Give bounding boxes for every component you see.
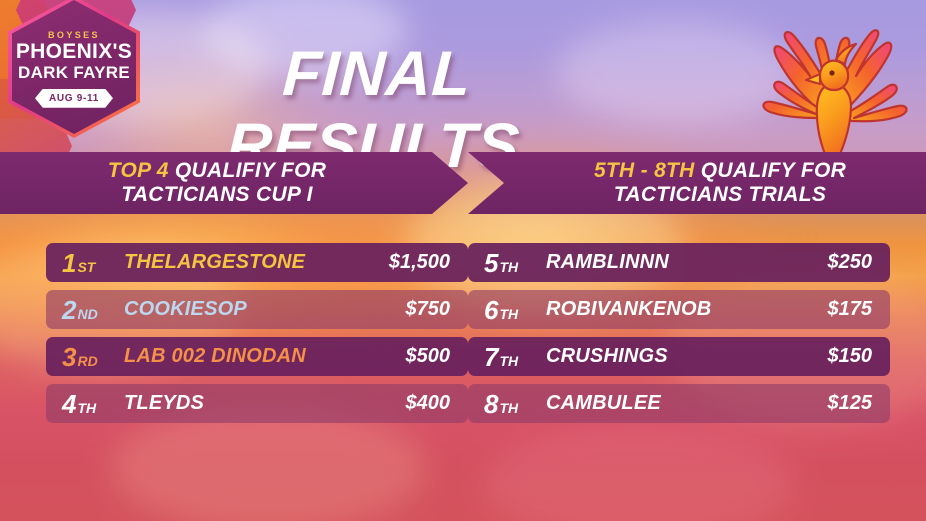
- rank-number: 4: [62, 391, 76, 417]
- result-row: 5THRAMBLINNN$250: [468, 243, 890, 282]
- banner-right-highlight: 5TH - 8TH: [594, 159, 695, 182]
- results-column-right: 5THRAMBLINNN$2506THROBIVANKENOB$1757THCR…: [468, 243, 890, 431]
- player-name: LAB 002 DINODAN: [124, 345, 406, 368]
- rank-placement: 4TH: [62, 391, 124, 417]
- prize-amount: $125: [828, 392, 873, 415]
- rank-number: 6: [484, 297, 498, 323]
- player-name: ROBIVANKENOB: [546, 298, 828, 321]
- prize-amount: $175: [828, 298, 873, 321]
- rank-number: 3: [62, 344, 76, 370]
- banner-left-highlight: TOP 4: [108, 159, 169, 182]
- rank-suffix: RD: [77, 354, 97, 368]
- rank-placement: 8TH: [484, 391, 546, 417]
- rank-number: 5: [484, 250, 498, 276]
- results-column-left: 1STTHELARGESTONE$1,5002NDCOOKIESOP$7503R…: [46, 243, 468, 431]
- player-name: TLEYDS: [124, 392, 406, 415]
- prize-amount: $1,500: [389, 251, 450, 274]
- rank-placement: 1ST: [62, 250, 124, 276]
- rank-placement: 2ND: [62, 297, 124, 323]
- rank-placement: 6TH: [484, 297, 546, 323]
- rank-suffix: TH: [499, 401, 518, 415]
- player-name: CAMBULEE: [546, 392, 828, 415]
- event-name-line2: DARK FAYRE: [18, 64, 130, 82]
- event-name-line1: PHOENIX'S: [16, 41, 132, 63]
- result-row: 6THROBIVANKENOB$175: [468, 290, 890, 329]
- banner-left-rest: QUALIFIY FOR: [175, 159, 326, 182]
- player-name: CRUSHINGS: [546, 345, 828, 368]
- rank-number: 8: [484, 391, 498, 417]
- prize-amount: $500: [406, 345, 451, 368]
- rank-number: 1: [62, 250, 76, 276]
- rank-suffix: ND: [77, 307, 97, 321]
- rank-number: 7: [484, 344, 498, 370]
- prize-amount: $250: [828, 251, 873, 274]
- rank-placement: 5TH: [484, 250, 546, 276]
- player-name: RAMBLINNN: [546, 251, 828, 274]
- rank-placement: 3RD: [62, 344, 124, 370]
- rank-suffix: TH: [499, 260, 518, 274]
- brand-name: BOYSES: [48, 30, 100, 40]
- prize-amount: $400: [406, 392, 451, 415]
- rank-suffix: TH: [499, 307, 518, 321]
- rank-placement: 7TH: [484, 344, 546, 370]
- result-row: 3RDLAB 002 DINODAN$500: [46, 337, 468, 376]
- graphic-canvas: BOYSES PHOENIX'S DARK FAYRE AUG 9-11 FIN…: [0, 0, 926, 521]
- banner-left-line2: TACTICIANS CUP I: [121, 183, 312, 206]
- result-row: 2NDCOOKIESOP$750: [46, 290, 468, 329]
- result-row: 4THTLEYDS$400: [46, 384, 468, 423]
- event-dates: AUG 9-11: [49, 93, 99, 104]
- result-row: 1STTHELARGESTONE$1,500: [46, 243, 468, 282]
- result-row: 8THCAMBULEE$125: [468, 384, 890, 423]
- banner-5th8th-qualify: 5TH - 8TH QUALIFY FOR TACTICIANS TRIALS: [468, 152, 926, 214]
- rank-suffix: TH: [499, 354, 518, 368]
- player-name: COOKIESOP: [124, 298, 406, 321]
- result-row: 7THCRUSHINGS$150: [468, 337, 890, 376]
- rank-suffix: ST: [77, 260, 95, 274]
- banner-right-rest: QUALIFY FOR: [701, 159, 846, 182]
- banner-right-line2: TACTICIANS TRIALS: [614, 183, 826, 206]
- rank-suffix: TH: [77, 401, 96, 415]
- prize-amount: $750: [406, 298, 451, 321]
- prize-amount: $150: [828, 345, 873, 368]
- rank-number: 2: [62, 297, 76, 323]
- event-date-pill: AUG 9-11: [35, 89, 113, 108]
- banner-top4-qualify: TOP 4 QUALIFIY FOR TACTICIANS CUP I: [0, 152, 468, 214]
- player-name: THELARGESTONE: [124, 251, 389, 274]
- event-logo-badge: BOYSES PHOENIX'S DARK FAYRE AUG 9-11: [8, 0, 140, 138]
